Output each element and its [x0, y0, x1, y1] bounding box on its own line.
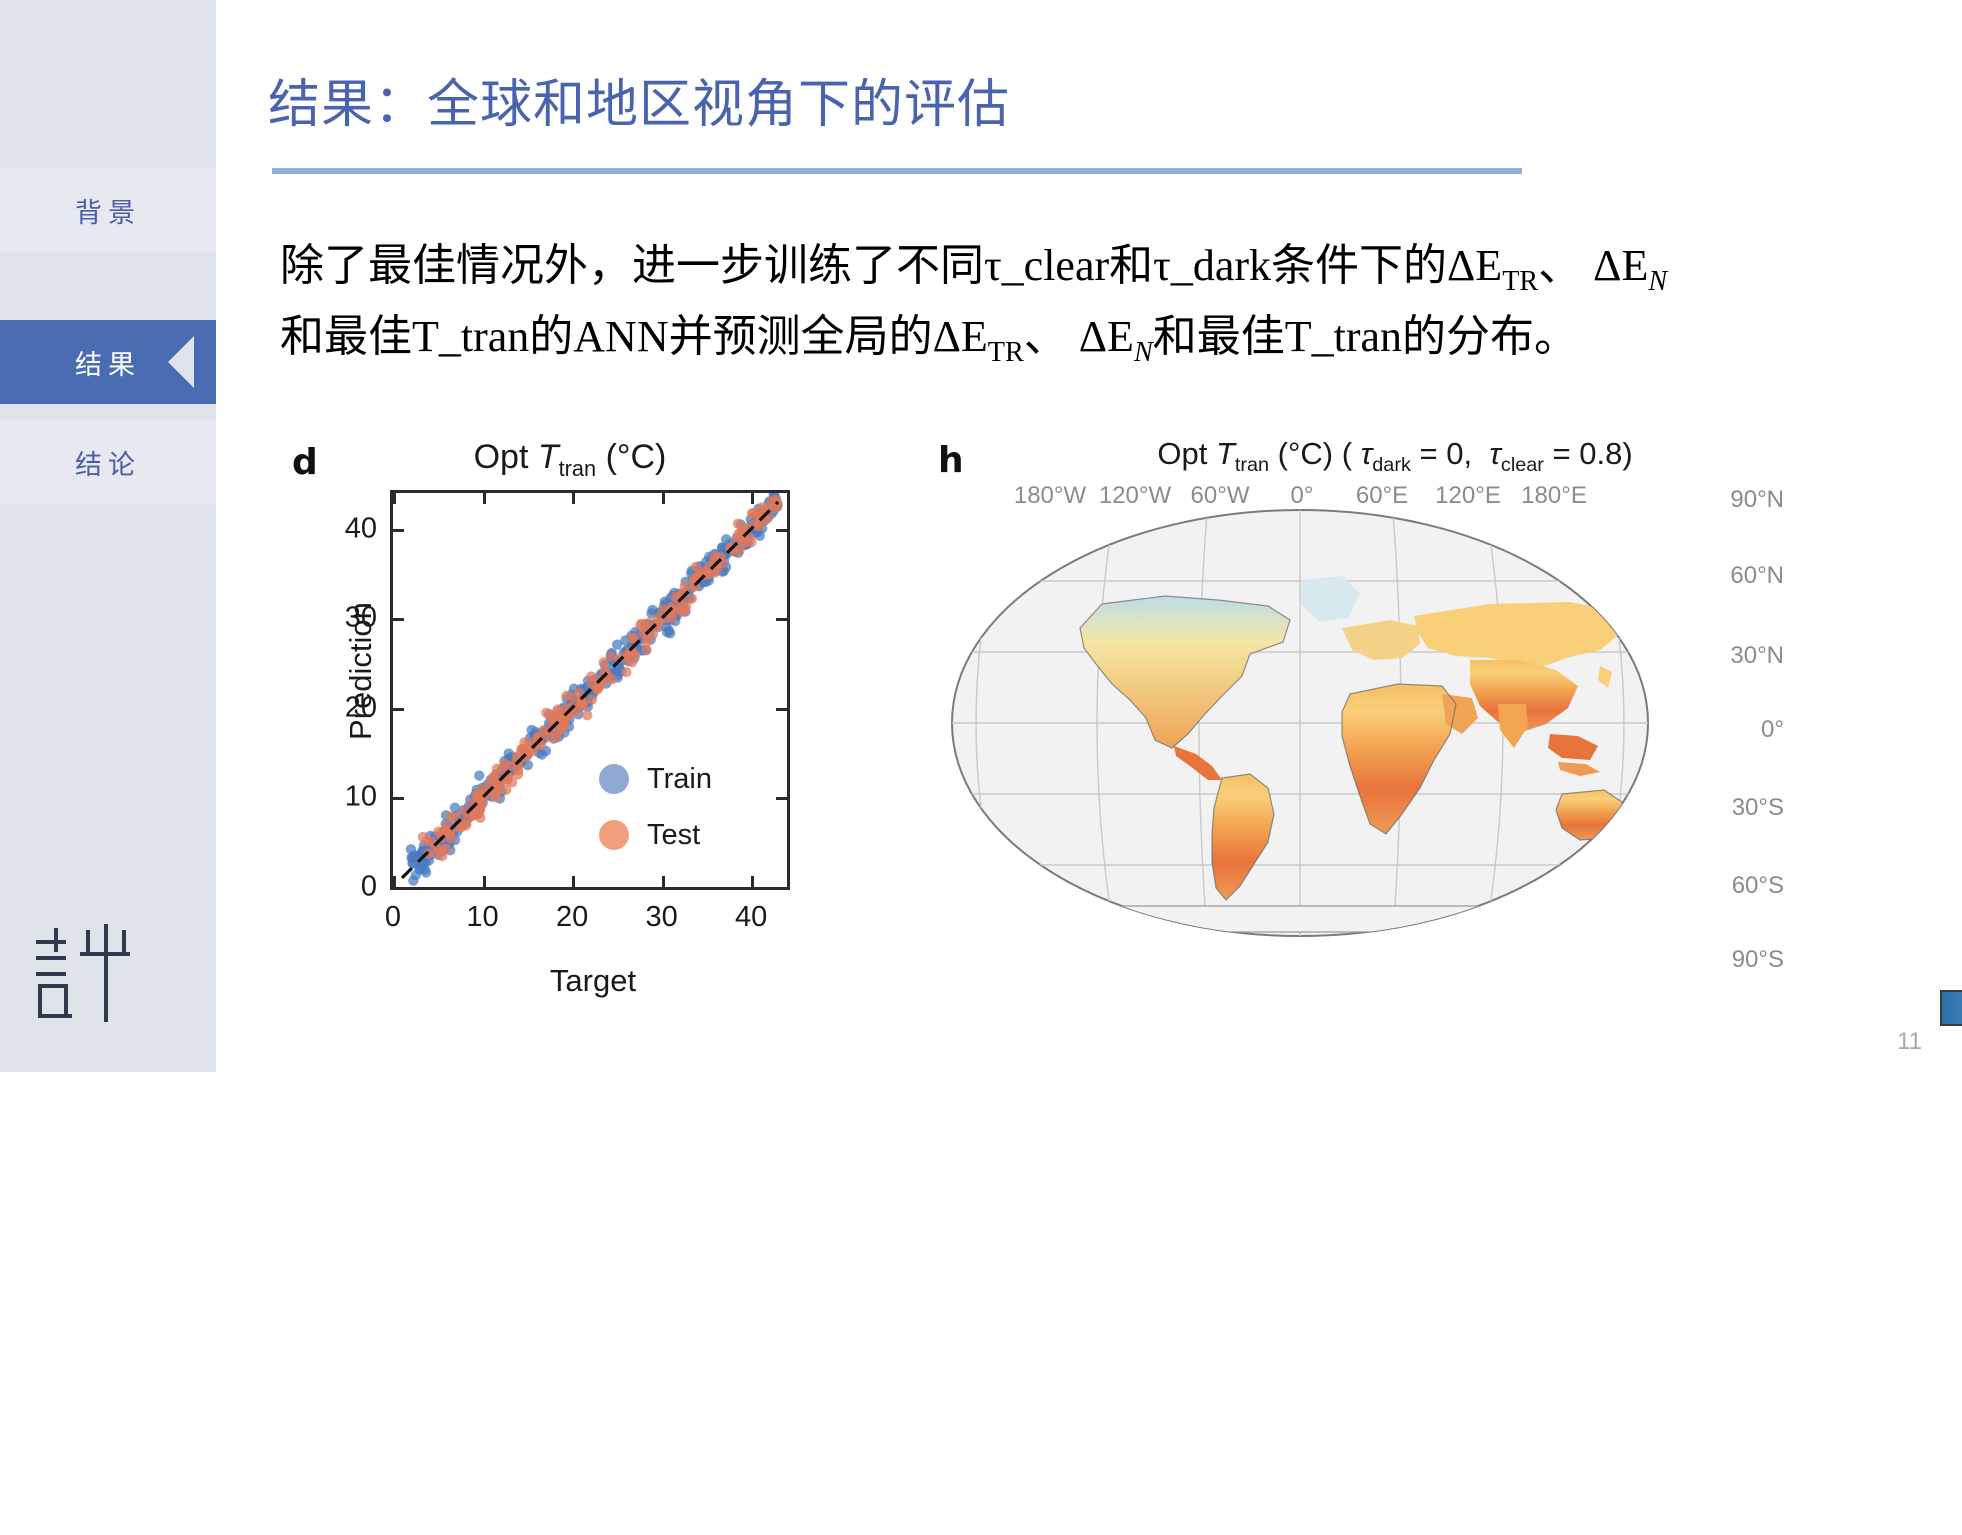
body-line2-a: 和最佳T_tran的ANN并预测全局的ΔE: [280, 312, 988, 361]
page-number: 11: [1897, 1028, 1922, 1056]
scatter-point: [691, 562, 701, 572]
map-title-unit: (°C): [1278, 436, 1333, 471]
scatter-panel: Opt Ttran (°C) Prediction Target 0102030…: [290, 430, 850, 1070]
landmass-new-zealand: [1634, 838, 1646, 856]
body-paragraph: 除了最佳情况外，进一步训练了不同τ_clear和τ_dark条件下的ΔETR、 …: [280, 232, 1920, 375]
x-tick-mark: [483, 876, 486, 887]
scatter-point: [559, 721, 569, 731]
x-tick-mark-top: [662, 493, 665, 504]
scatter-point: [586, 671, 596, 681]
scatter-title-sub: tran: [559, 456, 596, 481]
map-lat-label: 0°: [1761, 716, 1784, 744]
map-title-prefix: Opt: [1157, 436, 1216, 471]
figure-area: d Opt Ttran (°C) Prediction Target 01020…: [0, 430, 1962, 1070]
legend-label-train: Train: [647, 763, 712, 796]
legend-entry-train: Train: [599, 751, 781, 807]
scatter-point: [552, 704, 562, 714]
body-line2-c: 和最佳T_tran的分布。: [1153, 312, 1578, 361]
x-tick-label: 10: [466, 901, 498, 934]
y-tick-mark: [393, 708, 404, 711]
y-tick-label: 30: [345, 602, 377, 635]
scatter-title: Opt Ttran (°C): [290, 438, 850, 482]
x-tick-mark-top: [572, 493, 575, 504]
legend-dot-train: [599, 764, 629, 794]
scatter-point: [544, 731, 554, 741]
map-lon-label: 60°W: [1191, 482, 1250, 510]
y-axis-label: Prediction: [343, 561, 379, 781]
scatter-point: [471, 790, 481, 800]
scatter-title-var: T: [538, 438, 559, 476]
map-lon-label: 120°W: [1099, 482, 1171, 510]
x-tick-mark-top: [483, 493, 486, 504]
map-lon-label: 60°E: [1356, 482, 1408, 510]
body-line1-sub-n: N: [1648, 266, 1667, 297]
x-tick-label: 30: [645, 901, 677, 934]
scatter-point: [592, 684, 602, 694]
legend-label-test: Test: [647, 819, 700, 852]
y-tick-mark-right: [776, 529, 787, 532]
body-line2-sub-tr: TR: [988, 337, 1024, 368]
colorbar-ticks: 510152025: [1940, 1026, 1962, 1072]
scatter-legend: Train Test: [599, 751, 781, 863]
x-tick-label: 0: [385, 901, 401, 934]
map-longitude-labels: 180°W120°W60°W0°60°E120°E180°E: [930, 482, 1790, 510]
colorbar-wrap: 510152025: [1940, 990, 1962, 1072]
body-line1-sub-tr: TR: [1502, 266, 1538, 297]
scatter-point: [450, 802, 460, 812]
sidebar-item-results[interactable]: 结果: [0, 320, 216, 404]
scatter-point: [492, 763, 502, 773]
body-line1-b: 、 ΔE: [1538, 241, 1648, 290]
map-lat-label: 30°S: [1732, 794, 1784, 822]
colorbar-gradient: [1940, 990, 1962, 1026]
y-tick-label: 20: [345, 691, 377, 724]
map-title-tau-dark: τ: [1361, 436, 1373, 471]
scatter-point: [612, 639, 622, 649]
x-tick-mark: [662, 876, 665, 887]
x-tick-label: 20: [556, 901, 588, 934]
map-panel: Opt Ttran (°C) ( τdark = 0, τclear = 0.8…: [930, 430, 1790, 1070]
x-tick-mark-top: [751, 493, 754, 504]
sidebar-item-background[interactable]: 背景: [0, 168, 216, 252]
map-title-tau-clear: τ: [1489, 436, 1501, 471]
map-title-tau-dark-sub: dark: [1372, 454, 1411, 476]
scatter-point: [491, 792, 501, 802]
y-tick-mark: [393, 887, 404, 890]
x-axis-label: Target: [393, 963, 793, 999]
map-lat-label: 60°S: [1732, 872, 1784, 900]
y-tick-label: 0: [361, 871, 377, 904]
y-tick-mark: [393, 618, 404, 621]
map-lat-label: 90°N: [1730, 486, 1784, 514]
title-underline: [272, 168, 1522, 174]
body-line1-a: 除了最佳情况外，进一步训练了不同τ_clear和τ_dark条件下的ΔE: [280, 241, 1502, 290]
active-arrow-icon: [168, 336, 194, 388]
scatter-point: [681, 601, 691, 611]
map-title-tau-clear-sub: clear: [1501, 454, 1544, 476]
scatter-point: [627, 657, 637, 667]
map-title-tau-clear-val: = 0.8): [1553, 436, 1633, 471]
scatter-point: [621, 667, 631, 677]
scatter-point: [665, 628, 675, 638]
y-tick-label: 40: [345, 512, 377, 545]
body-line2-sub-n: N: [1134, 337, 1153, 368]
y-tick-mark-right: [776, 708, 787, 711]
body-line-1: 除了最佳情况外，进一步训练了不同τ_clear和τ_dark条件下的ΔETR、 …: [280, 232, 1920, 303]
scatter-point: [757, 502, 767, 512]
scatter-point: [733, 519, 743, 529]
map-lat-label: 90°S: [1732, 946, 1784, 974]
map-lon-label: 180°E: [1521, 482, 1587, 510]
sidebar-item-label: 结果: [75, 343, 141, 382]
legend-entry-test: Test: [599, 807, 781, 863]
scatter-point: [474, 770, 484, 780]
landmass-antarctica: [970, 906, 1630, 932]
x-tick-mark-top: [393, 493, 396, 504]
scatter-point: [582, 710, 592, 720]
x-tick-mark: [572, 876, 575, 887]
sidebar-item-label: 背景: [75, 191, 141, 230]
scatter-title-unit: (°C): [606, 438, 667, 476]
world-map-robinson: [950, 508, 1650, 938]
map-lon-label: 120°E: [1435, 482, 1501, 510]
map-title: Opt Ttran (°C) ( τdark = 0, τclear = 0.8…: [1000, 436, 1790, 477]
map-lon-label: 0°: [1291, 482, 1314, 510]
x-tick-mark: [751, 876, 754, 887]
x-tick-label: 40: [735, 901, 767, 934]
y-tick-mark: [393, 797, 404, 800]
body-line-2: 和最佳T_tran的ANN并预测全局的ΔETR、 ΔEN和最佳T_tran的分布…: [280, 303, 1920, 374]
scatter-point: [513, 765, 523, 775]
body-line2-b: 、 ΔE: [1024, 312, 1134, 361]
scatter-point: [607, 674, 617, 684]
map-lon-label: 180°W: [1014, 482, 1086, 510]
x-tick-mark: [393, 876, 396, 887]
scatter-point: [561, 691, 571, 701]
y-tick-label: 10: [345, 781, 377, 814]
map-latitude-labels: 90°N60°N30°N0°30°S60°S90°S: [1680, 430, 1790, 990]
scatter-point: [432, 847, 442, 857]
scatter-point: [599, 657, 609, 667]
scatter-axes: Prediction Target 010203040 010203040 Tr…: [390, 490, 790, 890]
page-title: 结果：全球和地区视角下的评估: [268, 62, 1010, 137]
y-tick-mark-right: [776, 887, 787, 890]
y-tick-mark-right: [776, 618, 787, 621]
map-title-var: T: [1216, 436, 1235, 471]
scatter-point: [501, 784, 511, 794]
map-title-tau-dark-val: = 0,: [1419, 436, 1472, 471]
scatter-title-prefix: Opt: [474, 438, 538, 476]
legend-dot-test: [599, 820, 629, 850]
scatter-point: [746, 537, 756, 547]
y-tick-mark: [393, 529, 404, 532]
map-title-sub: tran: [1235, 454, 1269, 476]
slide: 背景 结果 结论 结果：全球和地区视角下的评估: [0, 0, 1962, 1535]
scatter-point: [418, 832, 428, 842]
scatter-point: [587, 694, 597, 704]
map-lat-label: 30°N: [1730, 642, 1784, 670]
map-lat-label: 60°N: [1730, 562, 1784, 590]
